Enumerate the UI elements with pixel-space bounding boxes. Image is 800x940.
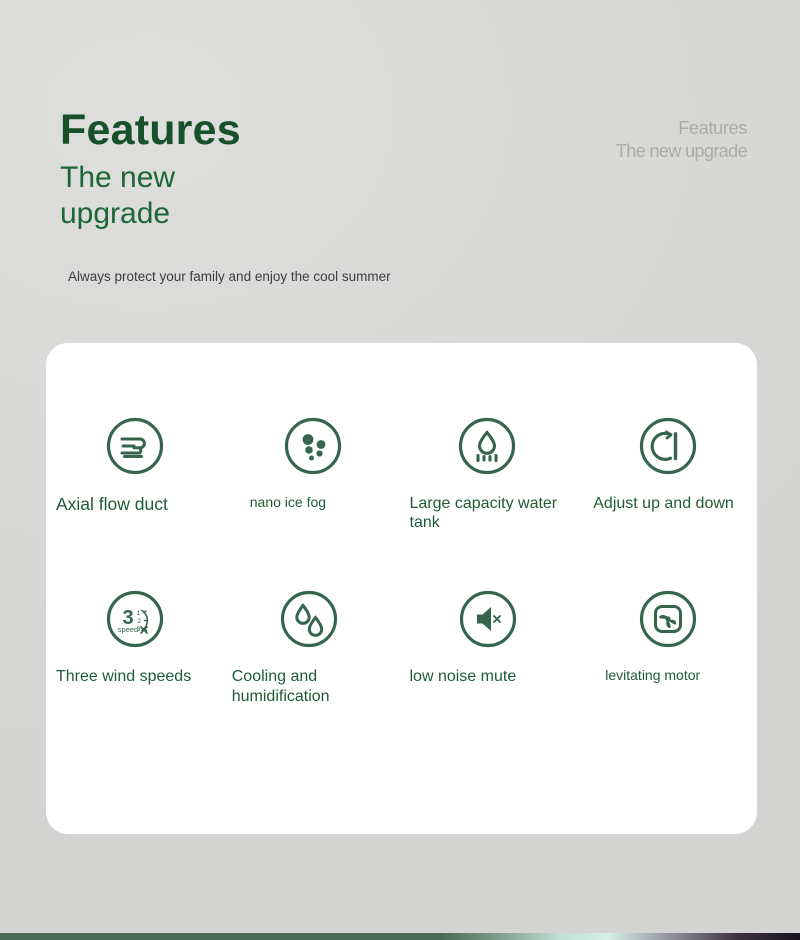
feature-label: Large capacity water tank (410, 494, 572, 532)
header-titles: Features The new upgrade (60, 108, 490, 233)
cooling-humidification-icon (278, 588, 340, 650)
axial-flow-duct-icon (104, 415, 166, 477)
page-subtitle-line1: The new (60, 161, 175, 194)
ghost-text-line2: The new upgrade (616, 140, 747, 163)
features-card: Axial flow duct nano ice fog (46, 343, 757, 834)
feature-item-adjust-up-down[interactable]: Adjust up and down (579, 415, 757, 532)
ghost-text-line1: Features (616, 117, 747, 140)
mute-speaker-icon (457, 588, 519, 650)
dial-mark-1: 1 (137, 610, 141, 617)
feature-item-cooling-humidification[interactable]: Cooling and humidification (224, 588, 402, 705)
feature-item-nano-ice-fog[interactable]: nano ice fog (224, 415, 402, 532)
features-grid: Axial flow duct nano ice fog (46, 415, 757, 706)
header-ghost-text: Features The new upgrade (616, 117, 747, 163)
header-section: Features The new upgrade Always protect … (0, 0, 800, 330)
feature-item-three-wind-speeds[interactable]: 3 speed 1 2 3 Three wind speeds (46, 588, 224, 705)
feature-label: Three wind speeds (54, 667, 216, 686)
adjust-up-down-icon (637, 415, 699, 477)
page-subtitle-line2: upgrade (60, 197, 170, 230)
water-tank-icon (456, 415, 518, 477)
page-root: Features The new upgrade Always protect … (0, 0, 800, 940)
dial-mark-2: 2 (137, 618, 141, 625)
feature-label: low noise mute (410, 667, 572, 686)
feature-label: levitating motor (587, 667, 749, 684)
nano-ice-fog-icon (282, 415, 344, 477)
header-tagline: Always protect your family and enjoy the… (68, 269, 468, 286)
page-subtitle: The new upgrade (60, 160, 240, 233)
feature-item-levitating-motor[interactable]: levitating motor (579, 588, 757, 705)
feature-label: Axial flow duct (54, 494, 216, 515)
levitating-motor-icon (637, 588, 699, 650)
feature-label: Adjust up and down (587, 494, 749, 513)
feature-label: nano ice fog (232, 494, 394, 511)
speed-word: speed (118, 625, 138, 634)
page-title: Features (60, 108, 490, 154)
next-section-sliver (0, 933, 800, 940)
feature-label: Cooling and humidification (232, 667, 394, 705)
feature-item-axial-flow-duct[interactable]: Axial flow duct (46, 415, 224, 532)
three-wind-speeds-icon: 3 speed 1 2 3 (104, 588, 166, 650)
dial-mark-3: 3 (137, 626, 141, 633)
feature-item-water-tank[interactable]: Large capacity water tank (402, 415, 580, 532)
feature-item-low-noise-mute[interactable]: low noise mute (402, 588, 580, 705)
